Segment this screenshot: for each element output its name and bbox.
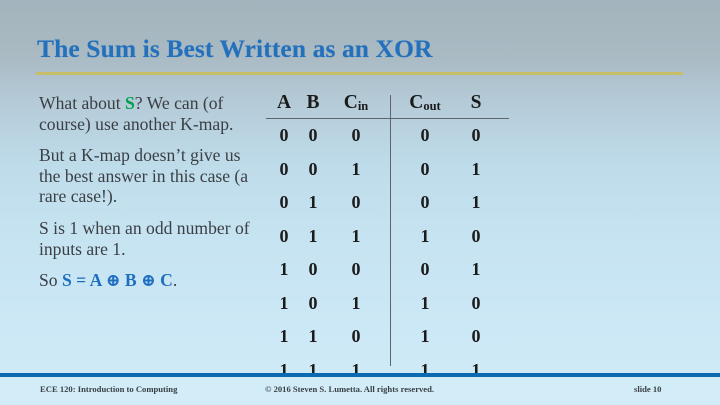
body-text-column: What about S? We can (of course) use ano… (39, 93, 254, 291)
table-row: 11010 (262, 326, 510, 360)
cell-cout: 0 (421, 159, 430, 180)
cell-cin: 0 (352, 125, 361, 146)
cell-a: 0 (280, 125, 289, 146)
cell-cout: 1 (421, 326, 430, 347)
cell-cout: 1 (421, 293, 430, 314)
paragraph-1-part-a: What about (39, 93, 125, 113)
table-row: 00101 (262, 159, 510, 193)
cell-s: 0 (472, 326, 481, 347)
body-paragraph-2: But a K-map doesn’t give us the best ans… (39, 145, 254, 207)
table-row: 01110 (262, 226, 510, 260)
xor-equation: S = A ⊕ B ⊕ C (62, 270, 173, 290)
table-header-b: B (306, 92, 319, 114)
cell-cin: 1 (352, 226, 361, 247)
cell-a: 0 (280, 159, 289, 180)
paragraph-4-prefix: So (39, 270, 62, 290)
cell-s: 0 (472, 293, 481, 314)
paragraph-4-suffix: . (173, 270, 177, 290)
truth-table-header-row: A B Cin Cout S (262, 92, 510, 118)
cell-cin: 1 (352, 293, 361, 314)
cell-s: 1 (472, 159, 481, 180)
table-row: 10001 (262, 259, 510, 293)
cell-s: 1 (472, 259, 481, 280)
body-paragraph-1: What about S? We can (of course) use ano… (39, 93, 254, 134)
cell-b: 0 (309, 159, 318, 180)
footer-course-label: ECE 120: Introduction to Computing (40, 384, 177, 394)
footer-copyright-label: © 2016 Steven S. Lumetta. All rights res… (265, 384, 434, 394)
slide-footer: ECE 120: Introduction to Computing © 201… (0, 377, 720, 405)
cell-a: 0 (280, 226, 289, 247)
cell-b: 0 (309, 125, 318, 146)
cell-b: 0 (309, 259, 318, 280)
cell-cin: 0 (352, 259, 361, 280)
cell-cin: 0 (352, 192, 361, 213)
table-row: 00000 (262, 125, 510, 159)
table-header-a: A (277, 92, 291, 114)
table-header-cout-subscript: out (423, 99, 440, 113)
truth-table: A B Cin Cout S 0000000101010010111010001… (262, 92, 510, 367)
cell-cin: 0 (352, 326, 361, 347)
table-header-cin-subscript: in (358, 99, 368, 113)
cell-a: 1 (280, 326, 289, 347)
title-underline-rule (36, 72, 683, 75)
table-header-s: S (471, 92, 482, 114)
cell-cout: 0 (421, 125, 430, 146)
cell-s: 0 (472, 226, 481, 247)
cell-a: 1 (280, 259, 289, 280)
cell-b: 1 (309, 192, 318, 213)
table-header-rule (266, 118, 509, 119)
cell-b: 0 (309, 293, 318, 314)
cell-b: 1 (309, 326, 318, 347)
footer-slide-number: slide 10 (634, 384, 661, 394)
table-header-cin-base: C (344, 92, 358, 113)
page-title: The Sum is Best Written as an XOR (37, 34, 433, 64)
highlight-s-variable: S (125, 93, 135, 113)
cell-a: 1 (280, 293, 289, 314)
cell-cin: 1 (352, 159, 361, 180)
cell-s: 1 (472, 192, 481, 213)
body-paragraph-4: So S = A ⊕ B ⊕ C. (39, 270, 254, 291)
cell-a: 0 (280, 192, 289, 213)
cell-s: 0 (472, 125, 481, 146)
table-row: 10110 (262, 293, 510, 327)
cell-b: 1 (309, 226, 318, 247)
table-header-cin: Cin (344, 92, 369, 114)
cell-cout: 0 (421, 192, 430, 213)
cell-cout: 0 (421, 259, 430, 280)
table-row: 01001 (262, 192, 510, 226)
body-paragraph-3: S is 1 when an odd number of inputs are … (39, 218, 254, 259)
table-header-cout-base: C (409, 92, 423, 113)
cell-cout: 1 (421, 226, 430, 247)
slide-canvas: The Sum is Best Written as an XOR What a… (0, 0, 720, 405)
table-header-cout: Cout (409, 92, 440, 114)
